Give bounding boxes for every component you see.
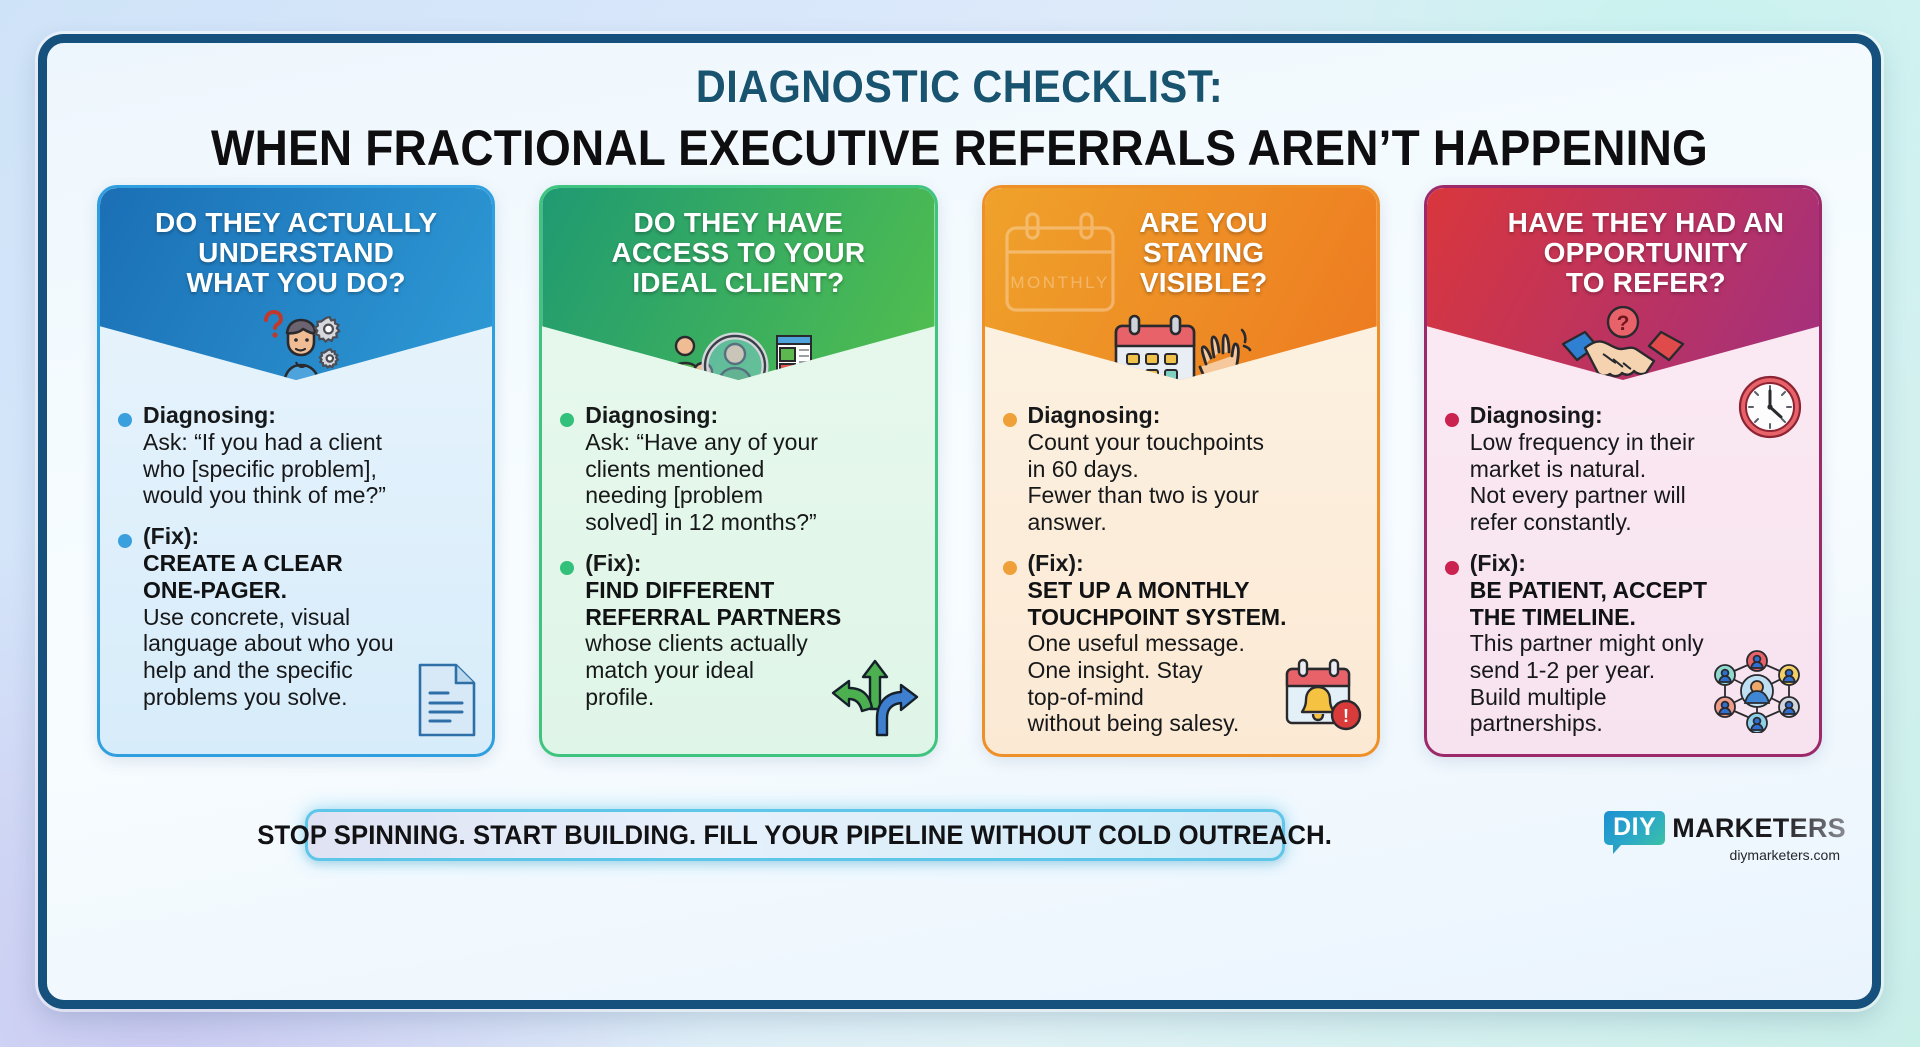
fix-headline: FIND DIFFERENT REFERRAL PARTNERS	[585, 577, 914, 630]
bullet-dot	[1003, 561, 1017, 575]
bullet-dot	[560, 413, 574, 427]
bullet-dot	[560, 561, 574, 575]
title-line-2: WHEN FRACTIONAL EXECUTIVE REFERRALS AREN…	[120, 119, 1799, 177]
card-header-title-2: DO THEY HAVE ACCESS TO YOUR IDEAL CLIENT…	[556, 208, 920, 299]
checklist-card-3: MONTHLY ARE YOU STAYING VISIBLE?	[982, 185, 1380, 757]
card-header-2: DO THEY HAVE ACCESS TO YOUR IDEAL CLIENT…	[542, 188, 934, 380]
card-header-title-1: DO THEY ACTUALLY UNDERSTAND WHAT YOU DO?	[114, 208, 478, 299]
checklist-cards: DO THEY ACTUALLY UNDERSTAND WHAT YOU DO?…	[97, 185, 1822, 757]
checklist-card-1: DO THEY ACTUALLY UNDERSTAND WHAT YOU DO?…	[97, 185, 495, 757]
outer-frame: DIAGNOSTIC CHECKLIST: WHEN FRACTIONAL EX…	[38, 34, 1881, 1009]
infographic-canvas: DIAGNOSTIC CHECKLIST: WHEN FRACTIONAL EX…	[0, 0, 1920, 1047]
checklist-card-4: HAVE THEY HAD AN OPPORTUNITY TO REFER? ?…	[1424, 185, 1822, 757]
diagnosing-label: Diagnosing:	[585, 402, 914, 429]
diagnosing-text: Ask: “Have any of your clients mentioned…	[585, 429, 914, 536]
diagnosing-block-2: Diagnosing:Ask: “Have any of your client…	[560, 402, 914, 536]
fix-headline: BE PATIENT, ACCEPT THE TIMELINE.	[1470, 577, 1799, 630]
diagnosing-text: Ask: “If you had a client who [specific …	[143, 429, 472, 509]
bullet-dot	[1003, 413, 1017, 427]
fix-block-3: (Fix):SET UP A MONTHLY TOUCHPOINT SYSTEM…	[1003, 550, 1357, 737]
fix-headline: CREATE A CLEAR ONE-PAGER.	[143, 550, 472, 603]
diagnosing-block-4: Diagnosing:Low frequency in their market…	[1445, 402, 1799, 536]
footer-banner: STOP SPINNING. START BUILDING. FILL YOUR…	[305, 809, 1285, 861]
fix-label: (Fix):	[143, 523, 472, 550]
bullet-dot	[1445, 561, 1459, 575]
card-header-title-3: ARE YOU STAYING VISIBLE?	[999, 208, 1363, 299]
diagnosing-block-1: Diagnosing:Ask: “If you had a client who…	[118, 402, 472, 509]
fix-block-2: (Fix):FIND DIFFERENT REFERRAL PARTNERSwh…	[560, 550, 914, 710]
fix-headline: SET UP A MONTHLY TOUCHPOINT SYSTEM.	[1028, 577, 1357, 630]
diagnosing-label: Diagnosing:	[1028, 402, 1357, 429]
diagnosing-label: Diagnosing:	[143, 402, 472, 429]
fix-label: (Fix):	[1028, 550, 1357, 577]
card-body-2: Diagnosing:Ask: “Have any of your client…	[542, 380, 934, 754]
page-title: DIAGNOSTIC CHECKLIST: WHEN FRACTIONAL EX…	[47, 61, 1872, 177]
diagnosing-text: Count your touchpoints in 60 days. Fewer…	[1028, 429, 1357, 536]
footer-tagline: STOP SPINNING. START BUILDING. FILL YOUR…	[258, 820, 1333, 851]
logo-diy-badge: DIY	[1604, 811, 1665, 845]
checklist-card-2: DO THEY HAVE ACCESS TO YOUR IDEAL CLIENT…	[539, 185, 937, 757]
fix-label: (Fix):	[1470, 550, 1799, 577]
card-header-1: DO THEY ACTUALLY UNDERSTAND WHAT YOU DO?	[100, 188, 492, 380]
card-body-4: Diagnosing:Low frequency in their market…	[1427, 380, 1819, 754]
svg-text:?: ?	[1616, 312, 1629, 335]
bullet-dot	[118, 413, 132, 427]
diagnosing-text: Low frequency in their market is natural…	[1470, 429, 1799, 536]
logo-url: diymarketers.com	[1730, 847, 1840, 863]
card-header-3: MONTHLY ARE YOU STAYING VISIBLE?	[985, 188, 1377, 380]
fix-text: One useful message. One insight. Stay to…	[1028, 630, 1357, 737]
thinking-person-gears-icon	[100, 306, 492, 384]
fix-text: This partner might only send 1-2 per yea…	[1470, 630, 1799, 737]
diagnosing-block-3: Diagnosing:Count your touchpoints in 60 …	[1003, 402, 1357, 536]
logo-marketers-text: MARKETERS	[1672, 813, 1846, 844]
bullet-dot	[118, 534, 132, 548]
handshake-question-icon: ?	[1427, 306, 1819, 386]
fix-text: whose clients actually match your ideal …	[585, 630, 914, 710]
card-header-4: HAVE THEY HAD AN OPPORTUNITY TO REFER? ?	[1427, 188, 1819, 380]
card-body-3: Diagnosing:Count your touchpoints in 60 …	[985, 380, 1377, 754]
brand-logo: DIY MARKETERS diymarketers.com	[1604, 811, 1846, 863]
card-header-title-4: HAVE THEY HAD AN OPPORTUNITY TO REFER?	[1441, 208, 1805, 299]
bullet-dot	[1445, 413, 1459, 427]
fix-text: Use concrete, visual language about who …	[143, 604, 472, 711]
title-line-1: DIAGNOSTIC CHECKLIST:	[120, 61, 1799, 113]
diagnosing-label: Diagnosing:	[1470, 402, 1799, 429]
fix-label: (Fix):	[585, 550, 914, 577]
card-body-1: Diagnosing:Ask: “If you had a client who…	[100, 380, 492, 754]
fix-block-1: (Fix):CREATE A CLEAR ONE-PAGER.Use concr…	[118, 523, 472, 710]
fix-block-4: (Fix):BE PATIENT, ACCEPT THE TIMELINE.Th…	[1445, 550, 1799, 737]
